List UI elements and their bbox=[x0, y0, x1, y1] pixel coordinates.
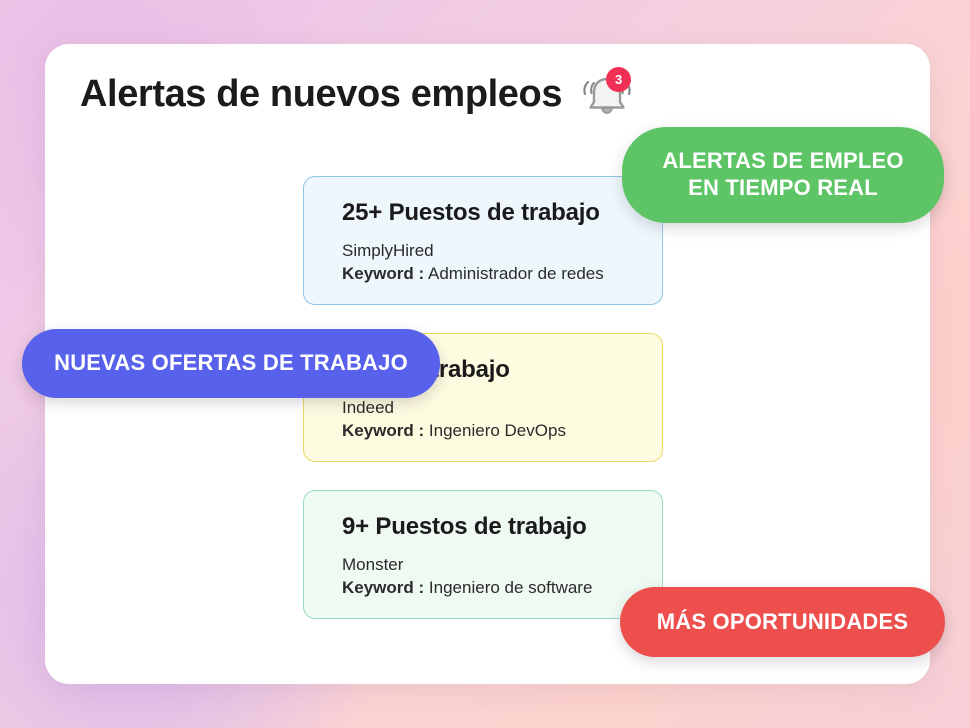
pill-realtime-alerts[interactable]: ALERTAS DE EMPLEO EN TIEMPO REAL bbox=[622, 127, 944, 223]
notification-bell[interactable]: 3 bbox=[576, 66, 638, 124]
alert-card-keyword-value: Administrador de redes bbox=[428, 264, 604, 283]
page-title: Alertas de nuevos empleos bbox=[80, 74, 562, 116]
alert-card-keyword: Keyword : Administrador de redes bbox=[342, 264, 662, 284]
notification-badge: 3 bbox=[606, 67, 631, 92]
alert-card-count: 25+ Puestos de trabajo bbox=[342, 199, 662, 227]
pill-new-job-offers[interactable]: NUEVAS OFERTAS DE TRABAJO bbox=[22, 329, 440, 398]
alert-card-list: 25+ Puestos de trabajo SimplyHired Keywo… bbox=[303, 176, 663, 647]
alert-card-source: Monster bbox=[342, 555, 662, 575]
alert-card-keyword-label: Keyword : bbox=[342, 264, 424, 283]
alert-card-keyword-label: Keyword : bbox=[342, 578, 424, 597]
panel-header: Alertas de nuevos empleos 3 bbox=[80, 66, 638, 124]
alert-card-monster[interactable]: 9+ Puestos de trabajo Monster Keyword : … bbox=[303, 490, 663, 619]
alert-card-source: Indeed bbox=[342, 398, 662, 418]
alert-card-keyword-value: Ingeniero DevOps bbox=[429, 421, 566, 440]
alert-card-keyword: Keyword : Ingeniero de software bbox=[342, 578, 662, 598]
pill-more-opportunities[interactable]: MÁS OPORTUNIDADES bbox=[620, 587, 945, 657]
alert-card-keyword: Keyword : Ingeniero DevOps bbox=[342, 421, 662, 441]
alert-card-keyword-value: Ingeniero de software bbox=[429, 578, 593, 597]
alert-card-count: 9+ Puestos de trabajo bbox=[342, 513, 662, 541]
alert-card-keyword-label: Keyword : bbox=[342, 421, 424, 440]
alert-card-simplyhired[interactable]: 25+ Puestos de trabajo SimplyHired Keywo… bbox=[303, 176, 663, 305]
pill-realtime-alerts-line1: ALERTAS DE EMPLEO bbox=[662, 148, 903, 173]
pill-realtime-alerts-line2: EN TIEMPO REAL bbox=[688, 175, 878, 200]
alert-card-source: SimplyHired bbox=[342, 241, 662, 261]
